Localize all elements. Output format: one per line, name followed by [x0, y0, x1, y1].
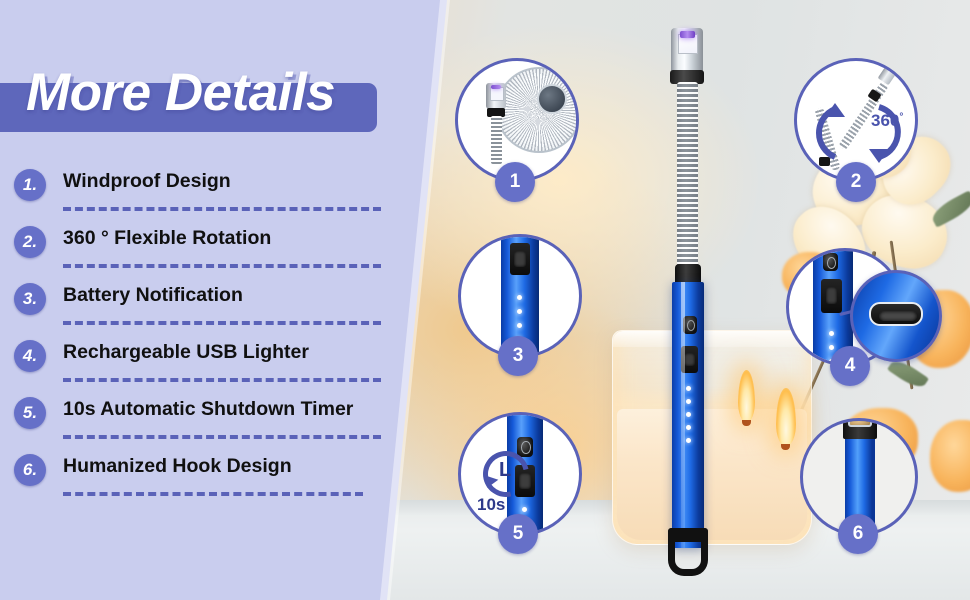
mini-gooseneck: [491, 116, 502, 164]
divider: [63, 207, 381, 211]
metal-cap-icon: [848, 418, 872, 427]
feature-label: Rechargeable USB Lighter: [63, 341, 431, 364]
page-title: More Details: [26, 62, 446, 123]
divider: [63, 378, 381, 382]
callout-5-timer[interactable]: L 10s 5: [458, 412, 590, 572]
callout-1-windproof[interactable]: 1: [455, 58, 591, 224]
feature-label: Battery Notification: [63, 284, 431, 307]
divider: [63, 435, 381, 439]
rotation-degree-unit: °: [899, 111, 903, 122]
mini-arc-icon: [491, 85, 501, 89]
rotation-degree-value: 360: [871, 111, 899, 130]
feature-number-badge: 3.: [14, 283, 46, 315]
feature-list: 1. Windproof Design 2. 360 ° Flexible Ro…: [14, 163, 434, 505]
infographic-canvas: 1 360° 2: [0, 0, 970, 600]
callout-6-hook[interactable]: 6: [800, 418, 932, 578]
usb-port-icon: [821, 279, 842, 313]
battery-led-indicator: [686, 386, 691, 451]
feature-number-badge: 1.: [14, 169, 46, 201]
callout-6-badge: 6: [838, 514, 878, 554]
feature-number-badge: 6.: [14, 454, 46, 486]
feature-number-badge: 5.: [14, 397, 46, 429]
usb-port-icon: [510, 243, 530, 275]
feature-label: 10s Automatic Shutdown Timer: [63, 398, 431, 421]
callout-1-badge: 1: [495, 162, 535, 202]
callout-4-magnifier: [850, 270, 942, 362]
callout-2-rotation[interactable]: 360° 2: [794, 58, 940, 226]
divider: [63, 321, 381, 325]
callout-3-battery[interactable]: 3: [458, 234, 590, 394]
electric-arc-icon: [680, 31, 695, 38]
main-product-lighter: [655, 28, 719, 568]
list-item[interactable]: 6. Humanized Hook Design: [14, 448, 434, 505]
flexible-gooseneck: [677, 82, 698, 268]
rotation-degree-label: 360°: [871, 111, 903, 131]
callout-3-badge: 3: [498, 336, 538, 376]
fan-icon: [496, 67, 579, 153]
power-button-icon: [683, 316, 697, 334]
feature-label: Humanized Hook Design: [63, 455, 431, 478]
divider: [63, 492, 363, 496]
feature-number-badge: 2.: [14, 226, 46, 258]
list-item[interactable]: 5. 10s Automatic Shutdown Timer: [14, 391, 434, 448]
callout-2-badge: 2: [836, 162, 876, 202]
mini-lighter-tip: [486, 83, 508, 175]
feature-label: Windproof Design: [63, 170, 431, 193]
usb-port-magnified-icon: [869, 302, 923, 326]
callout-5-badge: 5: [498, 514, 538, 554]
list-item[interactable]: 1. Windproof Design: [14, 163, 434, 220]
callout-4-badge: 4: [830, 346, 870, 386]
power-button-icon: [823, 253, 838, 271]
feature-label: 360 ° Flexible Rotation: [63, 227, 431, 250]
mini-arc-tip-icon: [486, 83, 506, 109]
list-item[interactable]: 2. 360 ° Flexible Rotation: [14, 220, 434, 277]
usb-port-icon: [681, 346, 698, 373]
arc-tip-icon: [671, 28, 703, 72]
hook-icon: [668, 528, 708, 576]
callout-4-usb[interactable]: 4: [786, 248, 960, 408]
divider: [63, 264, 381, 268]
timer-letter: L: [499, 459, 511, 482]
feature-number-badge: 4.: [14, 340, 46, 372]
list-item[interactable]: 3. Battery Notification: [14, 277, 434, 334]
lighter-body: [672, 282, 704, 548]
timer-duration-label: 10s: [477, 495, 505, 515]
list-item[interactable]: 4. Rechargeable USB Lighter: [14, 334, 434, 391]
